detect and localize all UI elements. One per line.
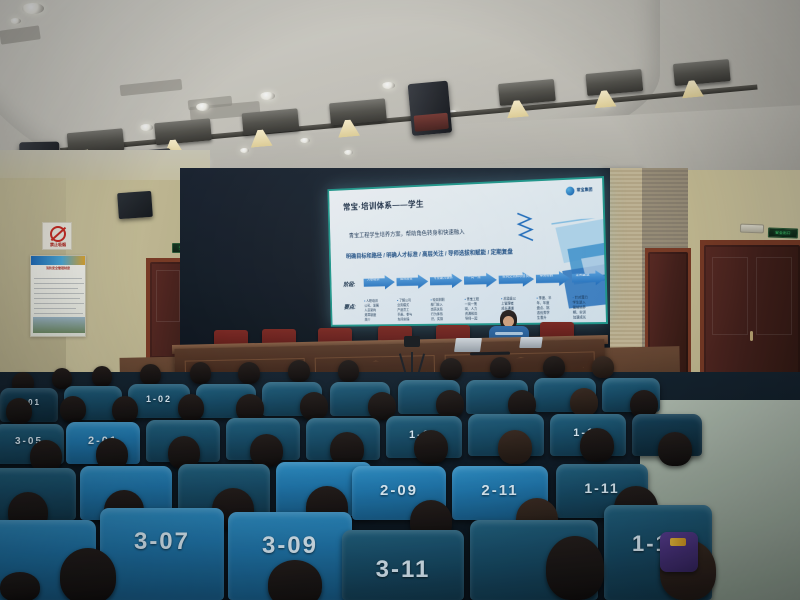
stage-light — [673, 59, 731, 86]
stage-row-label: 阶段: — [343, 280, 355, 289]
camera — [404, 336, 420, 347]
audience-head — [658, 432, 692, 466]
exit-sign-right-label: 安全出口 — [775, 230, 791, 236]
process-arrow: 定期复盘 — [572, 270, 606, 286]
seat-number: 3-11 — [342, 556, 464, 584]
audience-head — [436, 390, 464, 418]
process-arrow-label: 入职培训 — [367, 279, 379, 283]
seat[interactable]: 3-07 — [100, 508, 224, 600]
exit-sign-right: 安全出口 — [768, 227, 798, 238]
audience-head — [546, 536, 604, 600]
audience-head — [490, 357, 511, 378]
slide-title: 常宝·培训体系——学生 — [343, 198, 424, 213]
bullet-column: • 季度、半 年、年度 盘点、挑 选优秀学 生晋升 — [536, 295, 571, 322]
audience-head — [6, 398, 32, 424]
audience-head — [498, 430, 532, 464]
process-arrow-label: 定期复盘 — [576, 274, 590, 278]
bullet-text: 了解公司 业务模式 产品员工 手册、参与 车间实操 — [397, 298, 412, 321]
process-arrow: 角色转变 — [396, 274, 428, 289]
audience-head — [570, 388, 598, 416]
presenter-jacket-stripe — [495, 332, 523, 335]
audience-head — [238, 362, 260, 384]
emergency-light-right — [740, 224, 764, 234]
bullet-column: • 了解公司 业务模式 产品员工 手册、参与 车间实操 — [397, 297, 429, 323]
process-arrow: 入职培训 — [364, 275, 395, 290]
audience-head — [300, 392, 328, 420]
notice-title: 消防安全管理制度 — [33, 266, 83, 270]
notice-text-line — [34, 293, 84, 294]
door-panel — [756, 257, 792, 335]
process-arrow: 导师带教 — [536, 271, 571, 287]
seat-number: 3-09 — [228, 532, 352, 560]
process-arrow-label: 轮岗交流和项目实践 — [502, 275, 532, 279]
company-logo-text: 常宝集团 — [576, 188, 592, 193]
slide-logo: 常宝集团 — [566, 186, 593, 196]
bullet-text: 季度、半 年、年度 盘点、挑 选优秀学 生晋升 — [537, 296, 552, 320]
audience-head — [592, 356, 614, 378]
slide-surface: 常宝集团 常宝·培训体系——学生 青宝工程学生培养方案，帮助角色转身和快速融入 … — [329, 178, 606, 325]
wall-speaker-left — [117, 191, 153, 219]
bullet-column: • 轮岗到职 部门轮入 岗亮关系 行为体系 识、实操 — [430, 297, 463, 323]
notice-text-line — [34, 308, 76, 309]
bullet-text: 轮岗到职 部门轮入 岗亮关系 行为体系 识、实操 — [431, 298, 445, 322]
process-arrow: 专业能力提升 — [430, 273, 463, 288]
door-panel — [156, 270, 180, 322]
seat[interactable]: 3-11 — [342, 530, 464, 600]
bullet-text: 人职培训 公司、发展 人员架构 规章制度 简介 — [364, 299, 379, 322]
bullet-column: • 人职培训 公司、发展 人员架构 规章制度 简介 — [364, 298, 396, 323]
process-arrow-label: 专业能力提升 — [433, 277, 452, 281]
audience-head — [112, 396, 138, 423]
downlight — [22, 3, 44, 14]
bullet-text: 青宝工程 一岗一策 岗、人力 资源和岗 导师一起 — [465, 297, 479, 321]
notice-board: 消防安全管理制度 — [30, 255, 86, 337]
process-arrow-label: 角色转变 — [400, 278, 413, 282]
seat-number: 3-07 — [100, 528, 224, 556]
audience-head — [440, 358, 462, 380]
slide-zigzag-accent — [515, 211, 540, 245]
slide-subtitle-2: 明确目标和路径 / 明确人才标准 / 高层关注 / 导师选拔和赋能 / 定期复盘 — [346, 247, 513, 260]
downlight — [10, 18, 21, 24]
notice-text-line — [34, 313, 83, 314]
seat-number: 2-11 — [452, 482, 548, 499]
notice-text-line — [34, 288, 78, 289]
process-arrow-label: 导师带教 — [540, 275, 554, 279]
audience-head — [140, 364, 161, 385]
audience-head — [414, 430, 448, 464]
audience-head — [268, 560, 322, 600]
backpack-badge — [670, 538, 686, 546]
bullet-text: 针对潜力 学生进入 管培培养 期、实训 加速成长 — [573, 295, 588, 319]
slide-bullet-columns: • 人职培训 公司、发展 人员架构 规章制度 简介 • 了解公司 业务模式 产品… — [364, 294, 606, 325]
process-arrow-label: 一岗一策 — [468, 276, 481, 280]
notice-photo — [33, 317, 85, 333]
notice-text-line — [34, 283, 84, 284]
stage-light — [585, 69, 643, 96]
audience-head — [0, 572, 40, 600]
audience-head — [580, 428, 614, 462]
audience-head — [288, 360, 310, 382]
presentation-screen: 常宝集团 常宝·培训体系——学生 青宝工程学生培养方案，帮助角色转身和快速融入 … — [327, 176, 608, 327]
audience-head — [178, 394, 204, 421]
audience-head — [190, 362, 211, 384]
audience-head — [92, 366, 112, 387]
audience-head — [330, 432, 364, 466]
auditorium-photo: 禁止吸烟 消防安全管理制度 安全出口 安全出口 常宝集团 常宝·培训体系——学生… — [0, 0, 800, 600]
slide-subtitle-1: 青宝工程学生培养方案，帮助角色转身和快速融入 — [349, 227, 465, 240]
no-smoking-sign: 禁止吸烟 — [42, 222, 72, 250]
notice-text-line — [34, 303, 84, 304]
notice-text-line — [34, 298, 80, 299]
door-panel — [712, 257, 748, 335]
audience-head — [60, 548, 116, 600]
seat-number: 2-09 — [352, 482, 446, 499]
audience-head — [250, 434, 283, 467]
no-smoking-label: 禁止吸烟 — [43, 242, 73, 248]
stage-light — [498, 79, 556, 106]
company-logo-icon — [566, 186, 575, 195]
notice-header-bar — [31, 256, 86, 265]
door-knob[interactable] — [750, 331, 753, 341]
stage-light — [154, 118, 212, 145]
process-arrow: 轮岗交流和项目实践 — [499, 272, 535, 287]
ceiling-speaker — [408, 81, 453, 136]
notice-text-line — [34, 278, 82, 279]
process-arrow: 一岗一策 — [464, 273, 497, 288]
content-row-label: 要点: — [344, 302, 356, 311]
laptop — [519, 337, 543, 348]
laptop — [454, 338, 482, 352]
audience-head — [60, 396, 86, 422]
audience-head — [338, 360, 359, 382]
audience-head — [543, 356, 565, 378]
bullet-column: • 针对潜力 学生进入 管培培养 期、实训 加速成长 — [572, 294, 606, 321]
